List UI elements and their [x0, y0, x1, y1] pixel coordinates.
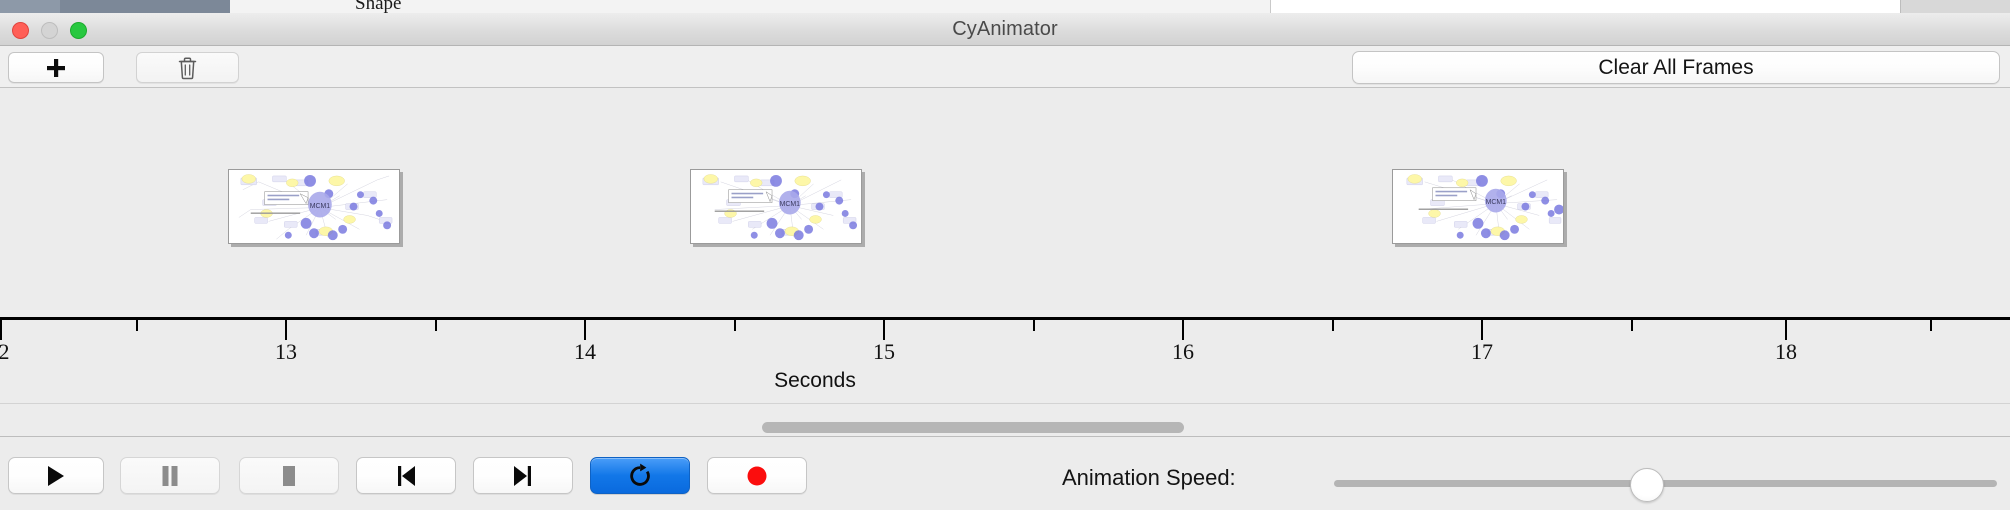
svg-text:MCM1: MCM1: [780, 201, 800, 208]
skip-backward-button[interactable]: [356, 457, 456, 494]
loop-icon: [627, 463, 653, 489]
frame-toolbar: Clear All Frames: [0, 46, 2010, 88]
skip-backward-icon: [394, 464, 418, 488]
axis-tick-major: [1785, 320, 1787, 340]
svg-text:MCM1: MCM1: [1486, 199, 1506, 206]
axis-tick-label: 15: [873, 339, 895, 365]
axis-tick-label: 16: [1172, 339, 1194, 365]
timeline-axis: 2 13 14 15 16 17 18 Seconds: [0, 317, 2010, 403]
pause-icon: [159, 464, 181, 488]
background-tab: [540, 0, 751, 14]
animation-speed-label: Animation Speed:: [1062, 465, 1236, 491]
background-tab: [390, 0, 541, 14]
background-toolbar-dark-2: [60, 0, 230, 14]
clear-all-frames-button[interactable]: Clear All Frames: [1352, 51, 2000, 84]
stop-button[interactable]: [239, 457, 339, 494]
background-tab: [1070, 0, 1271, 14]
keyframe-thumbnail[interactable]: MCM1: [1392, 169, 1564, 244]
play-icon: [45, 464, 67, 488]
svg-text:MCM1: MCM1: [310, 203, 330, 210]
axis-tick-major: [1481, 320, 1483, 340]
animation-speed-slider-thumb[interactable]: [1630, 468, 1664, 502]
axis-tick-major: [584, 320, 586, 340]
background-toolbar-dark: [0, 0, 60, 14]
axis-tick-minor: [1930, 320, 1932, 331]
stop-icon: [278, 464, 300, 488]
delete-frame-button[interactable]: [136, 52, 239, 83]
skip-forward-button[interactable]: [473, 457, 573, 494]
keyframe-thumbnail[interactable]: MCM1: [690, 169, 862, 244]
window-title: CyAnimator: [0, 13, 2010, 46]
play-button[interactable]: [8, 457, 104, 494]
background-tab: [750, 0, 861, 14]
keyframe-thumbnail[interactable]: MCM1: [228, 169, 400, 244]
animation-speed-slider-track[interactable]: [1334, 480, 1997, 487]
axis-tick-minor: [435, 320, 437, 331]
axis-tick-major: [0, 320, 2, 340]
axis-tick-minor: [1631, 320, 1633, 331]
axis-baseline: [0, 317, 2010, 320]
axis-tick-major: [883, 320, 885, 340]
record-button[interactable]: [707, 457, 807, 494]
cyanimator-window: Shape CyAnimator: [0, 0, 2010, 510]
axis-tick-label: 14: [574, 339, 596, 365]
axis-tick-major: [1182, 320, 1184, 340]
axis-title: Seconds: [0, 369, 1820, 393]
loop-button[interactable]: [590, 457, 690, 494]
axis-tick-label: 18: [1775, 339, 1797, 365]
axis-tick-label: 13: [275, 339, 297, 365]
plus-icon: [45, 57, 67, 79]
scrollbar-thumb[interactable]: [762, 422, 1184, 433]
axis-tick-major: [285, 320, 287, 340]
skip-forward-icon: [511, 464, 535, 488]
axis-tick-label: 17: [1471, 339, 1493, 365]
playback-control-bar: Animation Speed:: [0, 436, 2010, 510]
background-scrollbar: [1900, 0, 2010, 13]
axis-tick-minor: [1033, 320, 1035, 331]
pause-button[interactable]: [120, 457, 220, 494]
axis-tick-minor: [1332, 320, 1334, 331]
axis-tick-minor: [734, 320, 736, 331]
trash-icon: [177, 56, 198, 80]
timeline-panel[interactable]: MCM1: [0, 88, 2010, 317]
record-icon: [745, 464, 769, 488]
clear-all-frames-label: Clear All Frames: [1598, 56, 1753, 80]
axis-tick-minor: [136, 320, 138, 331]
axis-tick-label: 2: [0, 339, 10, 365]
window-titlebar: CyAnimator: [0, 13, 2010, 46]
add-frame-button[interactable]: [8, 52, 104, 83]
background-tab: [860, 0, 1071, 14]
